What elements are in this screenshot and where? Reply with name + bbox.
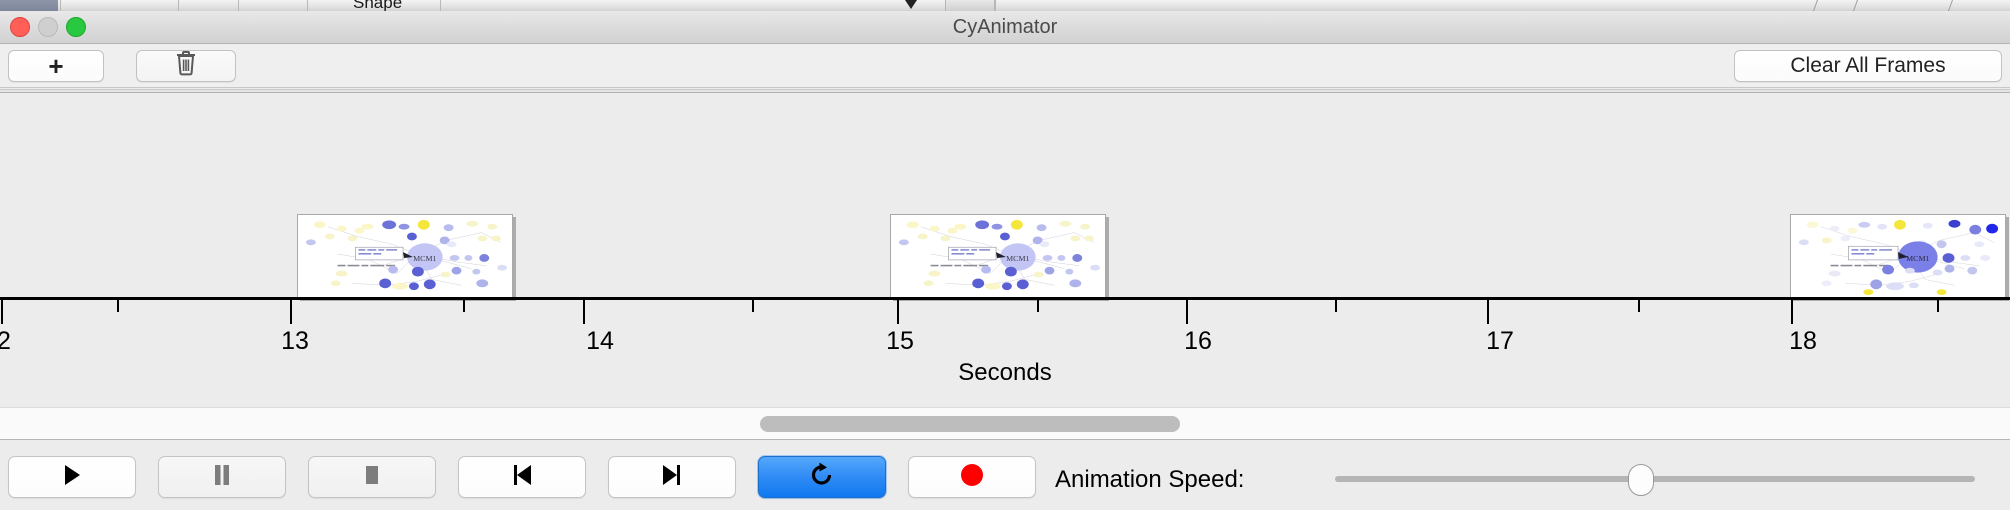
- record-icon: [959, 462, 985, 493]
- axis-tick-label: 17: [1486, 327, 1514, 356]
- axis-tick-label: 16: [1184, 327, 1212, 356]
- axis-tick-label: 15: [886, 327, 914, 356]
- horizontal-scrollbar[interactable]: [0, 407, 2010, 439]
- network-thumbnail-icon: MCM1: [891, 215, 1105, 297]
- skip-to-end-icon: [661, 463, 683, 492]
- timeline-panel[interactable]: MCM1: [0, 89, 2010, 407]
- background-window-strip: Shape: [0, 0, 2010, 11]
- network-thumbnail-icon: MCM1: [298, 215, 512, 297]
- axis-title: Seconds: [0, 359, 2010, 387]
- network-thumbnail-icon: MCM1: [1791, 215, 2005, 297]
- axis-tick-label: 14: [586, 327, 614, 356]
- loop-button[interactable]: [758, 456, 886, 498]
- timeline-top-divider: [0, 89, 2010, 93]
- pause-button[interactable]: [158, 456, 286, 498]
- clear-all-frames-label: Clear All Frames: [1790, 54, 1945, 78]
- timeline-frame-thumbnail[interactable]: MCM1: [297, 214, 513, 298]
- background-selected-cell: [0, 0, 58, 11]
- toolbar: + Clear All Frames: [0, 44, 2010, 88]
- svg-text:MCM1: MCM1: [1006, 254, 1029, 263]
- slider-track[interactable]: [1335, 476, 1975, 482]
- delete-frame-button[interactable]: [136, 50, 236, 82]
- add-frame-button[interactable]: +: [8, 50, 104, 82]
- timeline-frame-thumbnail[interactable]: MCM1: [1790, 214, 2006, 298]
- timeline-ruler[interactable]: 2 13 14 15 16 17 18 Seconds: [0, 297, 2010, 407]
- animation-speed-label: Animation Speed:: [1055, 466, 1244, 494]
- play-icon: [62, 463, 82, 492]
- svg-text:MCM1: MCM1: [1906, 254, 1929, 263]
- svg-text:MCM1: MCM1: [413, 254, 436, 263]
- window-title: CyAnimator: [0, 11, 2010, 44]
- playback-bar: Animation Speed:: [0, 439, 2010, 510]
- axis-tick-label: 18: [1789, 327, 1817, 356]
- animation-speed-slider[interactable]: [1335, 476, 1975, 482]
- plus-icon: +: [48, 53, 63, 79]
- play-button[interactable]: [8, 456, 136, 498]
- stop-button[interactable]: [308, 456, 436, 498]
- slider-thumb[interactable]: [1628, 464, 1654, 496]
- axis-tick-label: 2: [0, 327, 11, 356]
- loop-icon: [809, 461, 835, 494]
- cyanimator-window: Shape CyAnimator +: [0, 0, 2010, 510]
- axis-line: [0, 297, 2010, 300]
- stop-icon: [362, 463, 382, 492]
- clear-all-frames-button[interactable]: Clear All Frames: [1734, 50, 2002, 82]
- axis-tick-label: 13: [281, 327, 309, 356]
- record-button[interactable]: [908, 456, 1036, 498]
- titlebar: CyAnimator: [0, 11, 2010, 44]
- pause-icon: [212, 463, 232, 492]
- last-frame-button[interactable]: [608, 456, 736, 498]
- skip-to-start-icon: [511, 463, 533, 492]
- scrollbar-thumb[interactable]: [760, 416, 1180, 432]
- timeline-frame-thumbnail[interactable]: MCM1: [890, 214, 1106, 298]
- first-frame-button[interactable]: [458, 456, 586, 498]
- trash-icon: [175, 50, 197, 82]
- background-window-label: Shape: [353, 0, 402, 11]
